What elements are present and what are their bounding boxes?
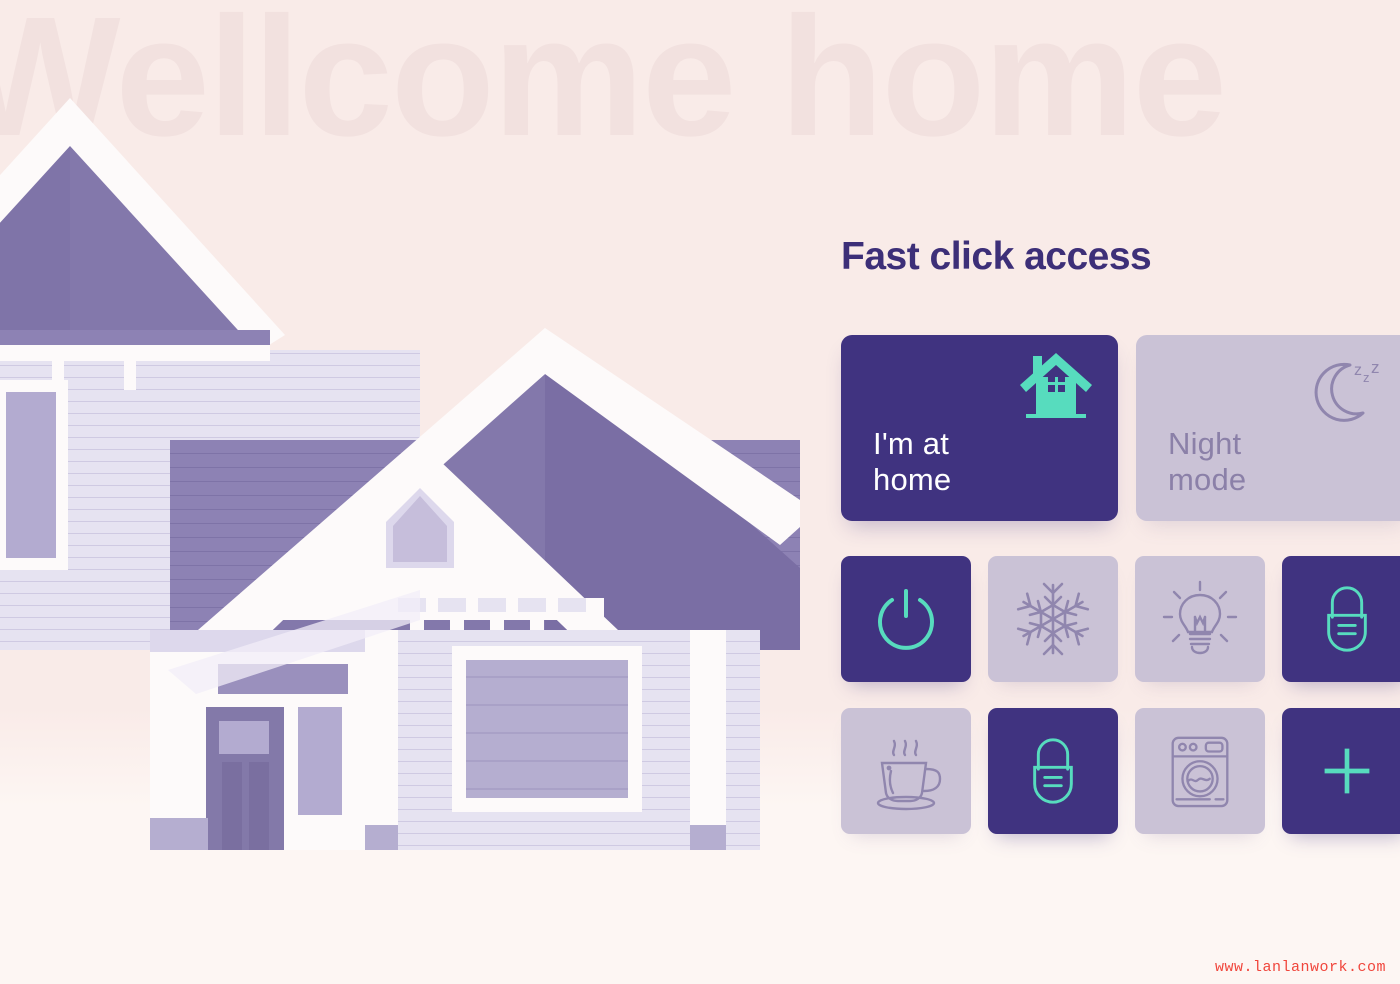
- tile-lock-1[interactable]: [1282, 556, 1400, 682]
- snowflake-icon: [1013, 579, 1093, 659]
- lightbulb-icon: [1160, 579, 1240, 659]
- moon-zzz-icon: z z z: [1313, 351, 1389, 423]
- plus-icon: [1319, 743, 1375, 799]
- quick-tile-grid: [841, 556, 1400, 834]
- mode-card-row: I'm at home z z z Night mode: [841, 335, 1400, 521]
- svg-text:z: z: [1354, 362, 1362, 379]
- tile-lighting[interactable]: [1135, 556, 1265, 682]
- svg-text:z: z: [1371, 358, 1380, 377]
- mode-card-im-at-home[interactable]: I'm at home: [841, 335, 1118, 521]
- washing-machine-icon: [1161, 732, 1239, 810]
- house-icon: [1018, 351, 1094, 423]
- site-watermark: www.lanlanwork.com: [1215, 959, 1386, 976]
- house-illustration: [0, 90, 800, 850]
- tile-coffee[interactable]: [841, 708, 971, 834]
- power-icon: [870, 583, 942, 655]
- tile-cooling[interactable]: [988, 556, 1118, 682]
- tile-power[interactable]: [841, 556, 971, 682]
- tile-lock-2[interactable]: [988, 708, 1118, 834]
- coffee-cup-icon: [864, 731, 948, 811]
- dashboard-stage: Wellcome home: [0, 0, 1400, 984]
- tile-add-new[interactable]: [1282, 708, 1400, 834]
- mode-card-label: I'm at home: [873, 426, 951, 499]
- mode-card-night-mode[interactable]: z z z Night mode: [1136, 335, 1400, 521]
- mode-card-label: Night mode: [1168, 426, 1246, 499]
- tile-laundry[interactable]: [1135, 708, 1265, 834]
- padlock-icon: [1314, 582, 1380, 656]
- padlock-icon: [1020, 734, 1086, 808]
- fast-access-panel: Fast click access: [841, 236, 1400, 279]
- page-title: Fast click access: [841, 236, 1400, 279]
- svg-text:z: z: [1363, 370, 1370, 385]
